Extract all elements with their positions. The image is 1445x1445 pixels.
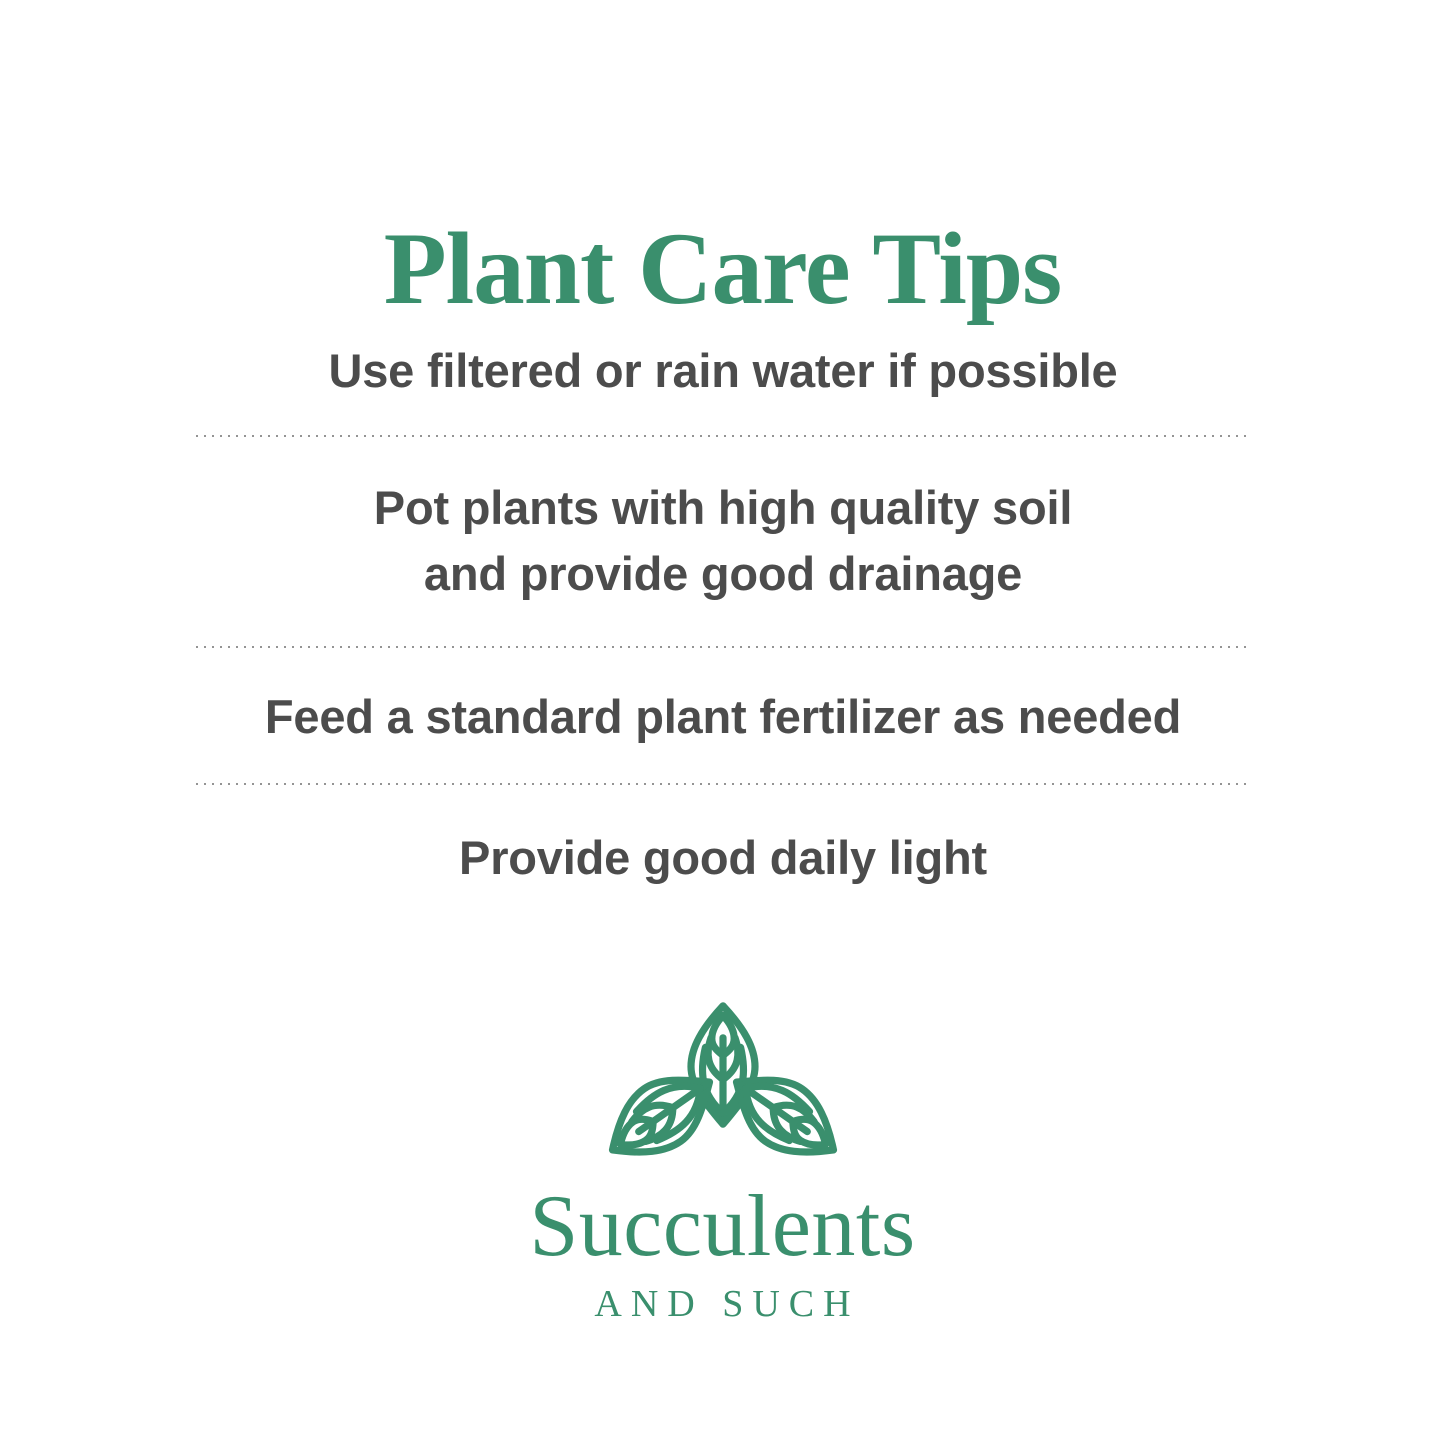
- brand-name: Succulents: [0, 1183, 1445, 1271]
- tip-line: Feed a standard plant fertilizer as need…: [196, 684, 1250, 751]
- three-leaf-trefoil-icon: [573, 985, 873, 1175]
- tip-line: and provide good drainage: [196, 541, 1250, 608]
- plant-care-tips-card: Plant Care Tips Use filtered or rain wat…: [0, 0, 1445, 1445]
- tip-line: Provide good daily light: [196, 825, 1250, 892]
- tip-item-2: Pot plants with high quality soil and pr…: [196, 437, 1250, 646]
- brand-logo: Succulents AND SUCH: [0, 985, 1445, 1323]
- brand-tagline: AND SUCH: [0, 1285, 1445, 1323]
- page-title: Plant Care Tips: [0, 214, 1445, 325]
- tip-line: Pot plants with high quality soil: [196, 475, 1250, 542]
- tip-line: Use filtered or rain water if possible: [196, 338, 1250, 405]
- tip-item-3: Feed a standard plant fertilizer as need…: [196, 648, 1250, 783]
- tips-list: Use filtered or rain water if possible P…: [196, 318, 1250, 912]
- tip-item-1: Use filtered or rain water if possible: [196, 318, 1250, 435]
- tip-item-4: Provide good daily light: [196, 785, 1250, 912]
